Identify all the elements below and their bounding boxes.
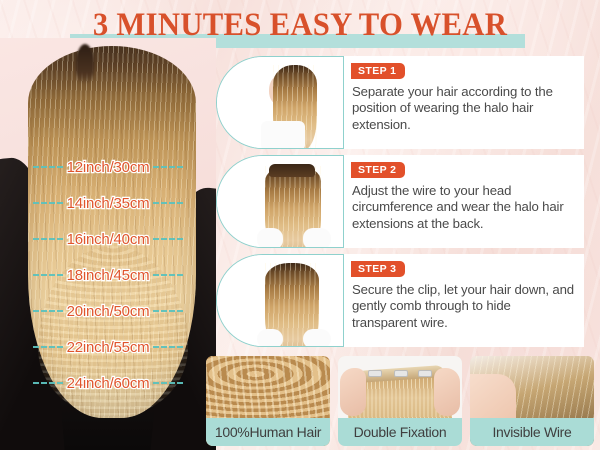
length-marker: 18inch/45cm (0, 265, 216, 285)
length-dash-right (153, 310, 183, 312)
step-3-photo (217, 255, 343, 346)
length-marker-label: 22inch/55cm (63, 339, 154, 356)
length-dash-right (153, 346, 183, 348)
weft-clip-left (368, 370, 382, 377)
length-marker: 22inch/55cm (0, 337, 216, 357)
step-2-badge: STEP 2 (351, 162, 405, 178)
length-marker-label: 12inch/30cm (63, 159, 154, 176)
length-marker-label: 16inch/40cm (63, 231, 154, 248)
length-dash-left (33, 382, 63, 384)
step-card-2: STEP 2 Adjust the wire to your head circ… (216, 155, 584, 248)
feature-card-human-hair: 100%Human Hair (206, 356, 330, 446)
model-top-left (257, 329, 283, 347)
length-marker: 24inch/60cm (0, 373, 216, 393)
feature-card-double-fixation: Double Fixation (338, 356, 462, 446)
hero-photo: 12inch/30cm 14inch/35cm 16inch/40cm 18in… (0, 38, 216, 450)
step-3-text: Secure the clip, let your hair down, and… (352, 282, 576, 331)
model-top-left (257, 228, 283, 248)
step-2-text: Adjust the wire to your head circumferen… (352, 183, 576, 232)
weft-clip-mid (394, 370, 408, 377)
hero-hair-part (76, 44, 94, 84)
length-dash-left (33, 166, 63, 168)
feature-2-caption: Double Fixation (338, 418, 462, 446)
step-1-photo (217, 57, 343, 148)
length-dash-right (153, 202, 183, 204)
step-2-photo (217, 156, 343, 247)
model-skin (470, 374, 516, 420)
length-dash-right (153, 238, 183, 240)
model-top-right (303, 228, 331, 248)
step-2-thumbnail (216, 155, 344, 248)
length-dash-left (33, 238, 63, 240)
feature-card-invisible-wire: Invisible Wire (470, 356, 594, 446)
hand-left (340, 368, 366, 416)
step-1-badge: STEP 1 (351, 63, 405, 79)
weft-clip-right (418, 370, 432, 377)
length-dash-left (33, 202, 63, 204)
length-marker: 12inch/30cm (0, 157, 216, 177)
length-dash-left (33, 274, 63, 276)
length-marker-label: 20inch/50cm (63, 303, 154, 320)
feature-1-caption: 100%Human Hair (206, 418, 330, 446)
step-2-body: STEP 2 Adjust the wire to your head circ… (344, 155, 584, 248)
step-3-thumbnail (216, 254, 344, 347)
length-dash-left (33, 310, 63, 312)
length-marker: 16inch/40cm (0, 229, 216, 249)
feature-3-caption: Invisible Wire (470, 418, 594, 446)
length-marker-label: 14inch/35cm (63, 195, 154, 212)
length-marker-label: 18inch/45cm (63, 267, 154, 284)
step-1-body: STEP 1 Separate your hair according to t… (344, 56, 584, 149)
length-dash-left (33, 346, 63, 348)
infographic-page: 3 MINUTES EASY TO WEAR 12inch/30cm 14inc… (0, 0, 600, 450)
length-dash-right (153, 274, 183, 276)
halo-weft (269, 164, 315, 177)
step-card-1: STEP 1 Separate your hair according to t… (216, 56, 584, 149)
hand-right (434, 368, 460, 416)
model-top (261, 121, 305, 149)
length-marker: 20inch/50cm (0, 301, 216, 321)
length-dash-right (153, 166, 183, 168)
step-3-body: STEP 3 Secure the clip, let your hair do… (344, 254, 584, 347)
length-marker: 14inch/35cm (0, 193, 216, 213)
length-dash-right (153, 382, 183, 384)
feature-strip: 100%Human Hair Double Fixation (206, 356, 596, 446)
length-marker-label: 24inch/60cm (63, 375, 154, 392)
steps-list: STEP 1 Separate your hair according to t… (216, 56, 600, 353)
model-top-right (303, 329, 331, 347)
step-1-thumbnail (216, 56, 344, 149)
step-3-badge: STEP 3 (351, 261, 405, 277)
step-1-text: Separate your hair according to the posi… (352, 84, 576, 133)
step-card-3: STEP 3 Secure the clip, let your hair do… (216, 254, 584, 347)
